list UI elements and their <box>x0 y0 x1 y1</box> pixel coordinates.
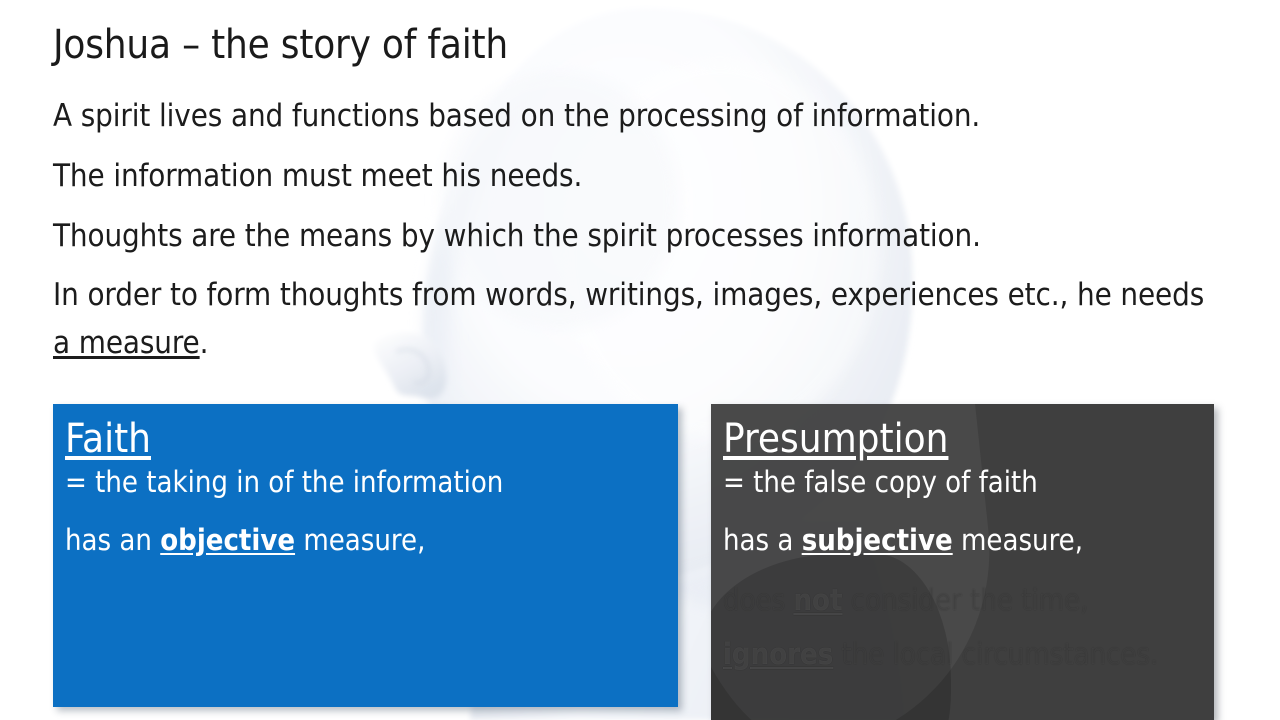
body-line-1: A spirit lives and functions based on th… <box>53 96 980 136</box>
body-line-5-suffix: . <box>200 325 209 361</box>
body-line-3: Thoughts are the means by which the spir… <box>53 216 981 256</box>
body-line-5: a measure. <box>53 323 208 363</box>
body-line-2: The information must meet his needs. <box>53 156 582 196</box>
body-line-4: In order to form thoughts from words, wr… <box>53 275 1204 315</box>
page-title: Joshua – the story of faith <box>53 20 508 70</box>
body-line-5-emphasis: a measure <box>53 325 200 361</box>
slide: Faith = the taking in of the information… <box>0 0 1280 720</box>
text-layer: Joshua – the story of faith A spirit liv… <box>0 0 1280 720</box>
